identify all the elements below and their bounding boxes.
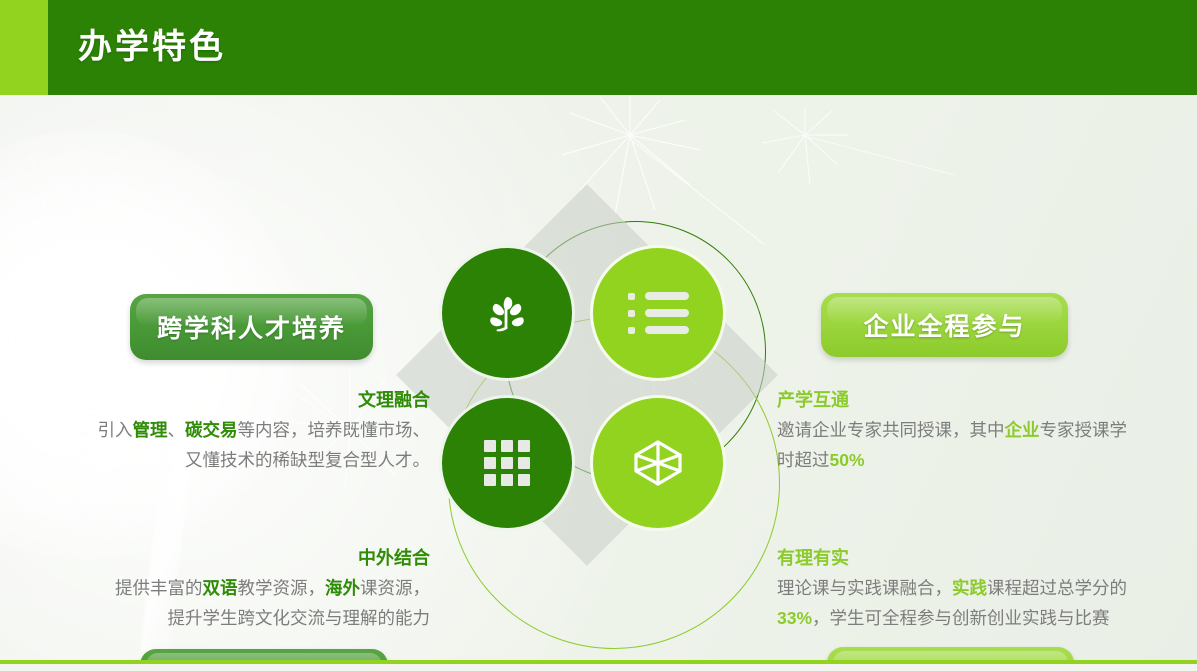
text-run: 课资源，	[360, 578, 430, 598]
cube-icon	[630, 435, 686, 491]
diagram-node-top-left[interactable]	[439, 245, 575, 381]
pill-button-top-right[interactable]: 企业全程参与	[821, 293, 1068, 357]
text-heading: 文理融合	[60, 387, 430, 413]
text-emphasis: 企业	[1005, 420, 1040, 440]
diagram-node-bottom-right[interactable]	[590, 395, 726, 531]
list-icon	[628, 292, 689, 334]
text-emphasis: 双语	[203, 578, 238, 598]
text-run: 提升学生跨文化交流与理解的能力	[168, 608, 431, 628]
grid-icon	[484, 440, 530, 486]
text-block-bottom-right: 有理有实 理论课与实践课融合，实践课程超过总学分的 33%，学生可全程参与创新创…	[777, 545, 1177, 633]
leaf-icon	[479, 285, 535, 341]
text-block-bottom-left: 中外结合 提供丰富的双语教学资源，海外课资源， 提升学生跨文化交流与理解的能力	[60, 545, 430, 633]
pill-button-bottom-right[interactable]: 优质课程	[827, 647, 1074, 660]
header-accent-bar	[0, 0, 48, 95]
text-run: 又懂技术的稀缺型复合型人才。	[185, 450, 430, 470]
pill-button-bottom-left[interactable]: 国际视野与领导力	[140, 649, 388, 660]
diagram-node-bottom-left[interactable]	[439, 395, 575, 531]
text-run: 等内容，培养既懂市场、	[238, 420, 431, 440]
page-title: 办学特色	[78, 20, 226, 74]
text-heading: 有理有实	[777, 545, 1177, 571]
slide: 办学特色	[0, 0, 1197, 671]
text-emphasis: 实践	[952, 578, 987, 598]
text-emphasis: 海外	[325, 578, 360, 598]
bottom-white-strip	[0, 664, 1197, 671]
text-run: 教学资源，	[238, 578, 326, 598]
slide-body: 跨学科人才培养 国际视野与领导力 企业全程参与 优质课程 文理融合 引入管理、碳…	[0, 95, 1197, 660]
text-run: ，学生可全程参与创新创业实践与比赛	[812, 608, 1110, 628]
central-diagram	[410, 205, 800, 655]
text-run: 引入	[98, 420, 133, 440]
text-run: 专家授课学	[1040, 420, 1128, 440]
text-run: 时超过	[777, 450, 830, 470]
diagram-node-top-right[interactable]	[590, 245, 726, 381]
text-block-top-left: 文理融合 引入管理、碳交易等内容，培养既懂市场、 又懂技术的稀缺型复合型人才。	[60, 387, 430, 475]
slide-header: 办学特色	[0, 0, 1197, 95]
text-emphasis: 50%	[830, 450, 865, 470]
text-heading: 中外结合	[60, 545, 430, 571]
text-block-top-right: 产学互通 邀请企业专家共同授课，其中企业专家授课学 时超过50%	[777, 387, 1177, 475]
text-run: 提供丰富的	[115, 578, 203, 598]
pill-button-top-left[interactable]: 跨学科人才培养	[130, 294, 373, 360]
text-heading: 产学互通	[777, 387, 1177, 413]
text-run: 、	[168, 420, 186, 440]
text-emphasis: 碳交易	[185, 420, 238, 440]
text-emphasis: 管理	[133, 420, 168, 440]
text-emphasis: 33%	[777, 608, 812, 628]
text-run: 课程超过总学分的	[987, 578, 1127, 598]
text-run: 理论课与实践课融合，	[777, 578, 952, 598]
text-run: 邀请企业专家共同授课，其中	[777, 420, 1005, 440]
